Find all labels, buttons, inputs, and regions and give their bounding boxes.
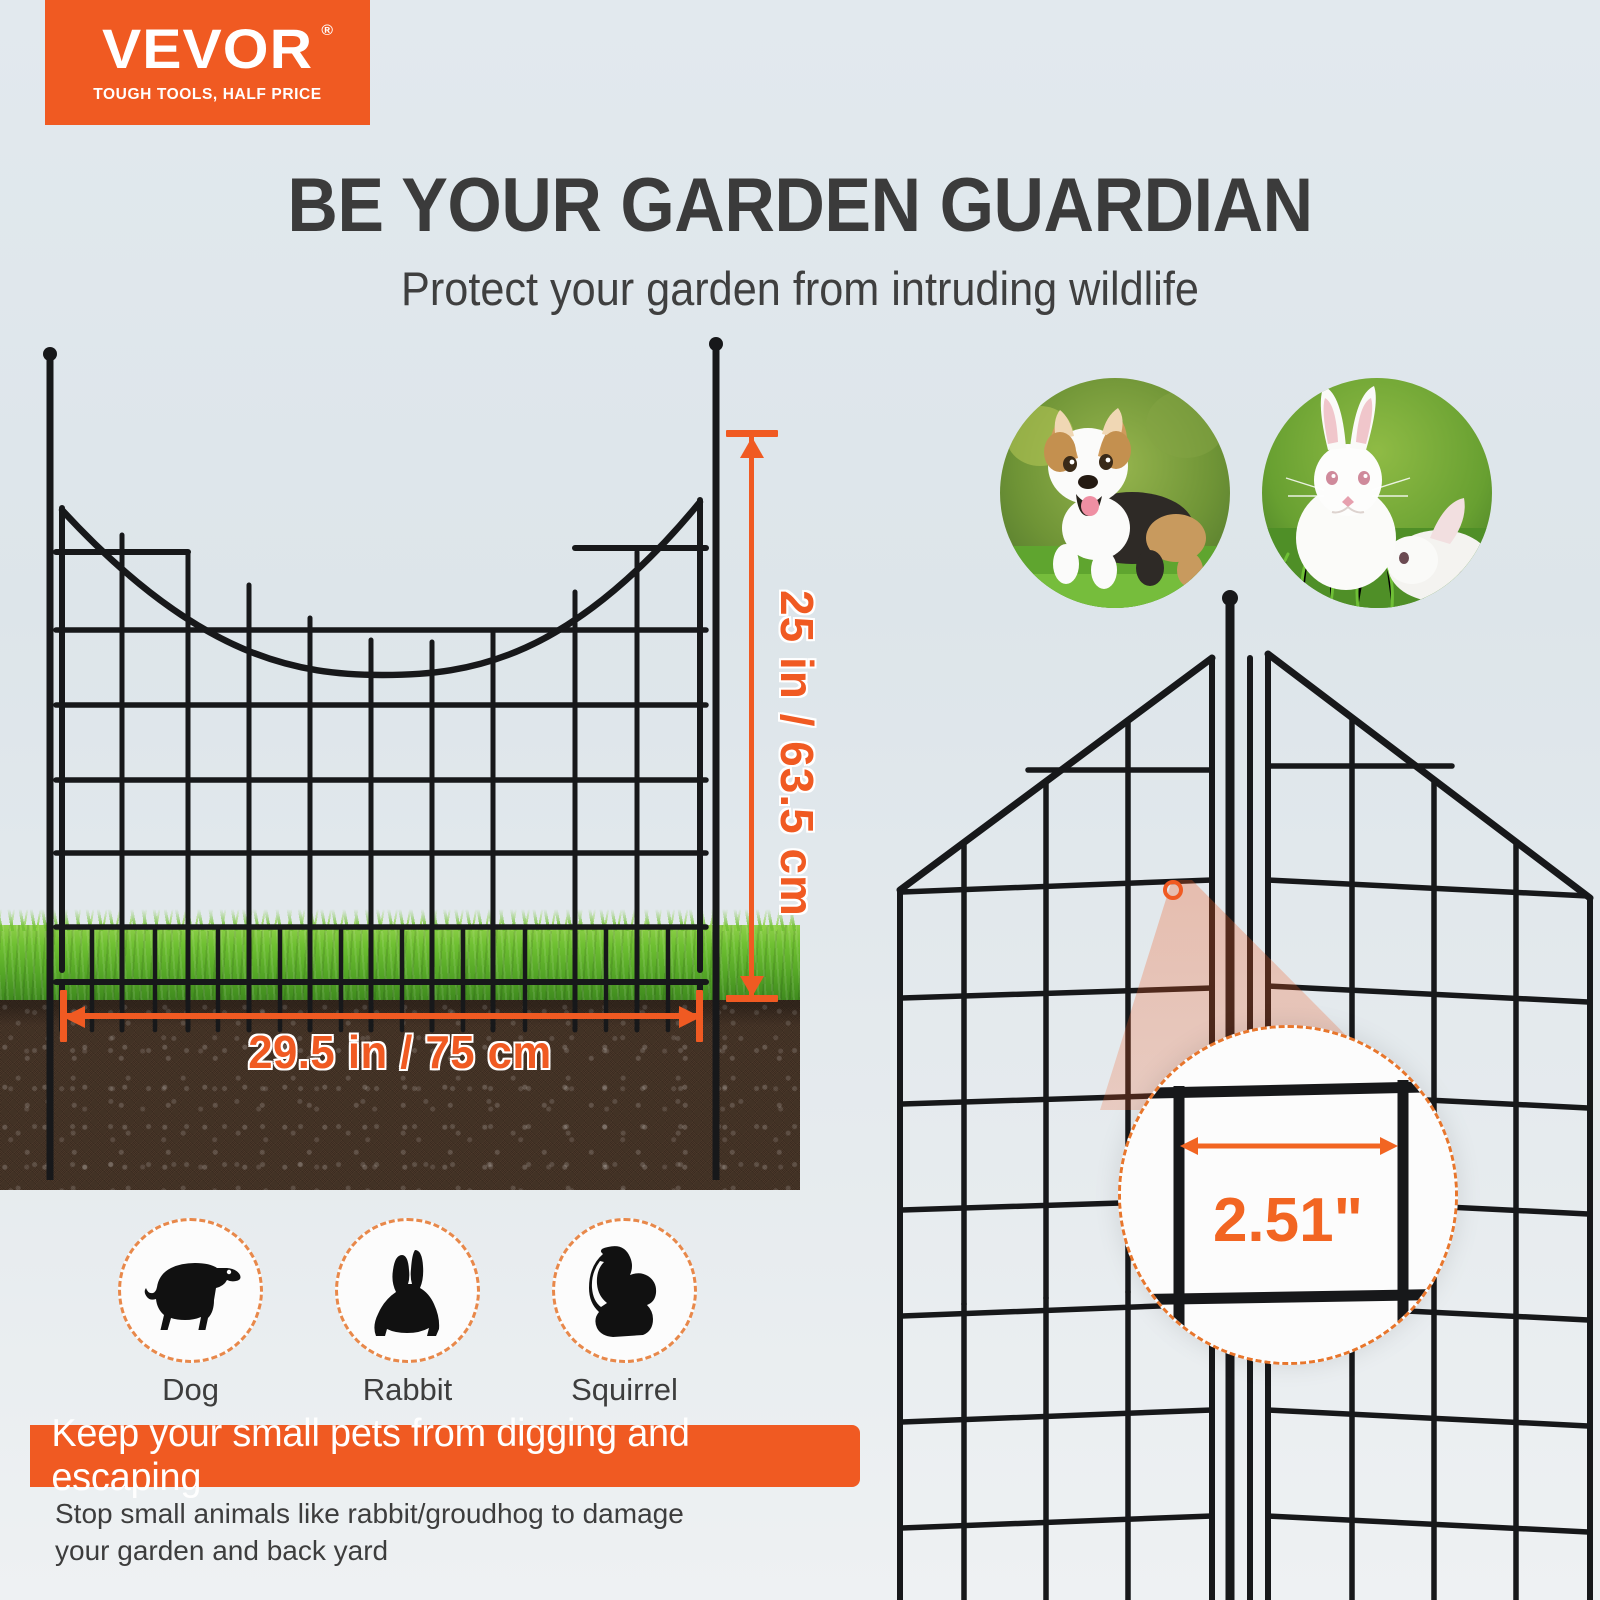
- dog-silhouette-icon: [139, 1252, 243, 1330]
- feature-banner-text: Keep your small pets from digging and es…: [30, 1412, 835, 1500]
- height-dim-line: [749, 437, 754, 997]
- width-dimension-label: 29.5 in / 75 cm: [20, 1025, 780, 1079]
- height-dim-arrow-down-icon: [738, 975, 766, 997]
- badge-label: Squirrel: [552, 1372, 697, 1408]
- height-dim-arrow-up-icon: [738, 437, 766, 459]
- badge-ring: [118, 1218, 263, 1363]
- logo-wordmark: VEVOR®: [102, 21, 313, 77]
- mesh-target-ring-icon: [1163, 880, 1183, 900]
- badge-ring: [335, 1218, 480, 1363]
- target-animals-list: Dog Rabbit Squirrel: [118, 1218, 698, 1403]
- page-subtitle: Protect your garden from intruding wildl…: [64, 265, 1536, 312]
- page-title: BE YOUR GARDEN GUARDIAN: [64, 168, 1536, 244]
- height-dimension-label: 25 in / 63.5 cm: [770, 590, 824, 917]
- feature-description-line1: Stop small animals like rabbit/groudhog …: [55, 1496, 815, 1533]
- logo-wordmark-text: VEVOR: [102, 17, 313, 80]
- height-dim-top-cap: [726, 430, 778, 437]
- registered-mark-icon: ®: [321, 23, 334, 38]
- rabbit-photo: [1262, 378, 1492, 608]
- dog-photo: [1000, 378, 1230, 608]
- mesh-width-arrow-icon: [1180, 1135, 1398, 1157]
- feature-description-line2: your garden and back yard: [55, 1533, 815, 1570]
- badge-label: Dog: [118, 1372, 263, 1408]
- product-infographic: VEVOR® TOUGH TOOLS, HALF PRICE BE YOUR G…: [0, 0, 1600, 1600]
- width-dim-line: [67, 1013, 697, 1019]
- vevor-logo: VEVOR® TOUGH TOOLS, HALF PRICE: [45, 0, 370, 125]
- mesh-size-label: 2.51": [1118, 1185, 1458, 1256]
- feature-description: Stop small animals like rabbit/groudhog …: [55, 1496, 815, 1570]
- feature-banner: Keep your small pets from digging and es…: [30, 1425, 860, 1487]
- height-dim-bottom-cap: [726, 995, 778, 1002]
- badge-label: Rabbit: [335, 1372, 480, 1408]
- badge-dog: Dog: [118, 1218, 263, 1408]
- logo-tagline: TOUGH TOOLS, HALF PRICE: [93, 86, 322, 104]
- badge-ring: [552, 1218, 697, 1363]
- badge-squirrel: Squirrel: [552, 1218, 697, 1408]
- squirrel-silhouette-icon: [580, 1243, 670, 1339]
- rabbit-silhouette-icon: [365, 1246, 451, 1336]
- badge-rabbit: Rabbit: [335, 1218, 480, 1408]
